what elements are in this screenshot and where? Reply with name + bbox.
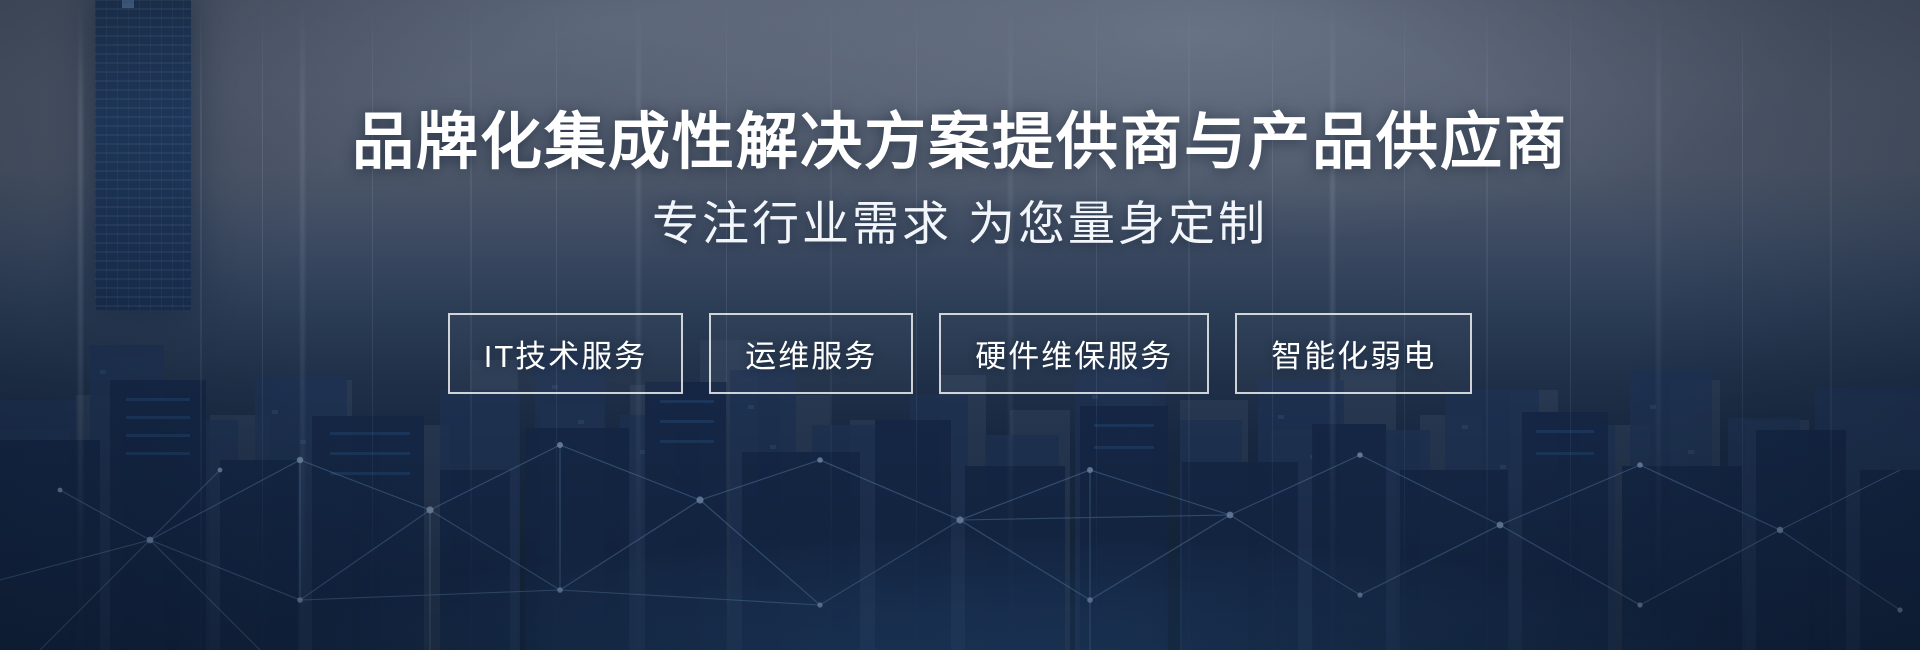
service-tag-label: IT技术服务	[484, 331, 648, 376]
service-tag-it-technical[interactable]: IT技术服务	[448, 313, 684, 394]
service-tag-operations[interactable]: 运维服务	[709, 313, 913, 394]
banner-headline: 品牌化集成性解决方案提供商与产品供应商	[352, 112, 1568, 174]
banner-content: 品牌化集成性解决方案提供商与产品供应商 专注行业需求 为您量身定制 IT技术服务…	[0, 0, 1920, 650]
service-tag-smart-low-voltage[interactable]: 智能化弱电	[1235, 313, 1472, 394]
service-tag-label: 运维服务	[745, 331, 877, 376]
hero-banner: 品牌化集成性解决方案提供商与产品供应商 专注行业需求 为您量身定制 IT技术服务…	[0, 0, 1920, 650]
service-tag-label: 智能化弱电	[1271, 331, 1436, 376]
banner-subheadline: 专注行业需求 为您量身定制	[652, 200, 1268, 247]
service-tag-row: IT技术服务 运维服务 硬件维保服务 智能化弱电	[448, 313, 1473, 394]
service-tag-hardware-maintenance[interactable]: 硬件维保服务	[939, 313, 1209, 394]
service-tag-label: 硬件维保服务	[975, 331, 1173, 376]
